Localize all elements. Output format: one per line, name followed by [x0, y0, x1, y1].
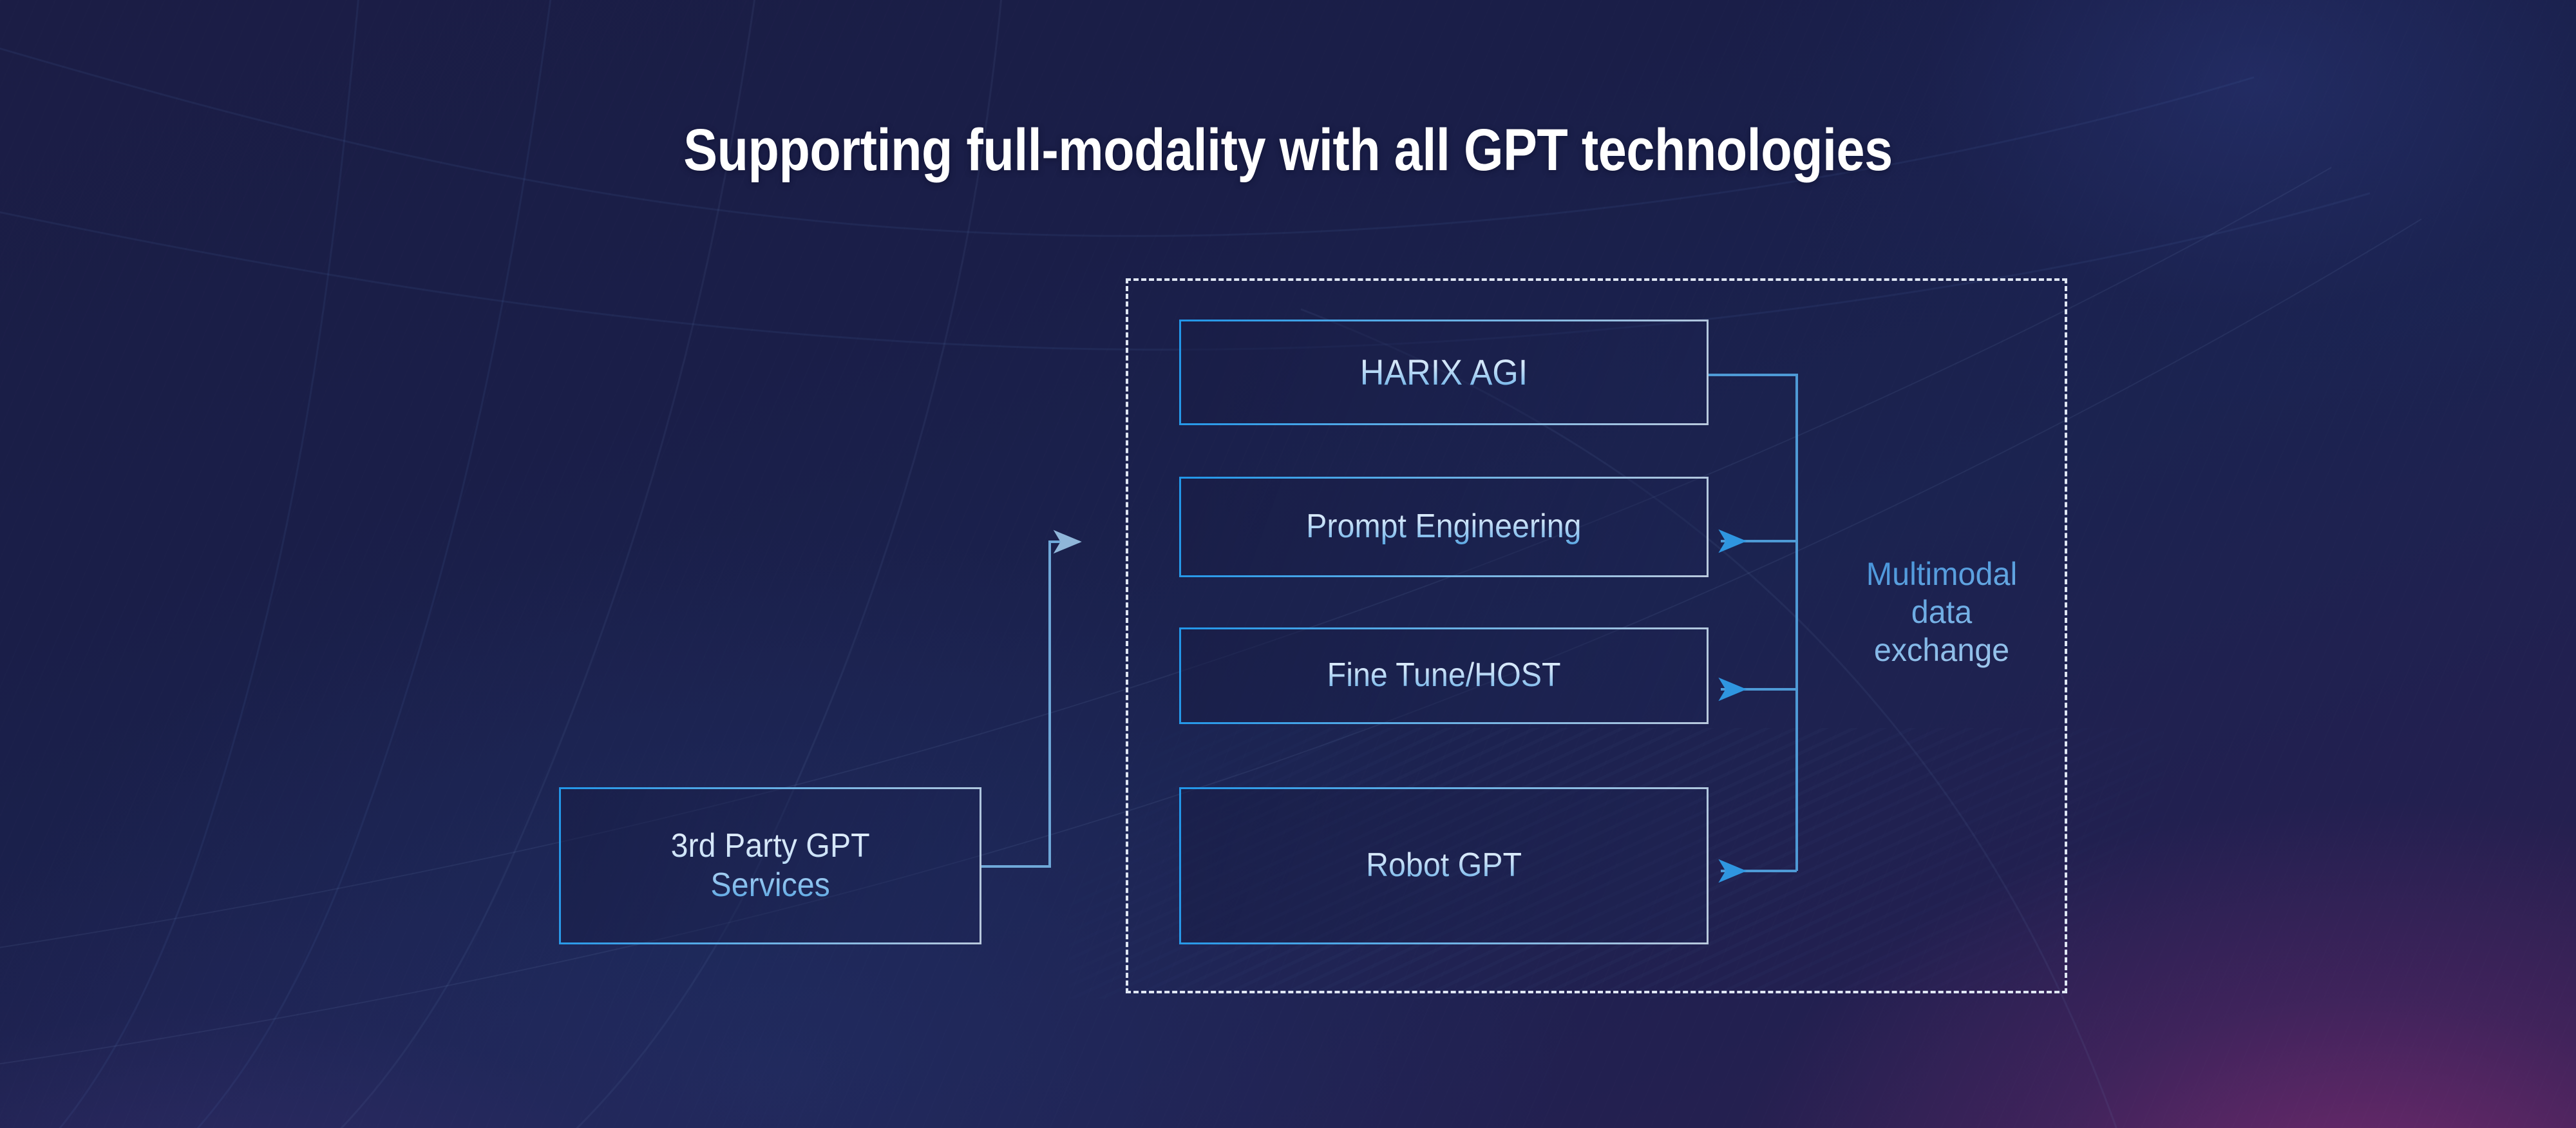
node-robot-gpt[interactable]: Robot GPT: [1179, 787, 1709, 944]
multimodal-data-exchange-label: Multimodal data exchange: [1826, 555, 2058, 669]
node-fine-tune-host-label: Fine Tune/HOST: [1327, 656, 1561, 695]
node-prompt-engineering[interactable]: Prompt Engineering: [1179, 477, 1709, 577]
page-title: Supporting full-modality with all GPT te…: [180, 119, 2396, 182]
node-prompt-engineering-label: Prompt Engineering: [1306, 507, 1581, 546]
node-harix-agi-label: HARIX AGI: [1360, 351, 1528, 394]
node-harix-agi[interactable]: HARIX AGI: [1179, 320, 1709, 425]
node-fine-tune-host[interactable]: Fine Tune/HOST: [1179, 627, 1709, 724]
slide-canvas: Supporting full-modality with all GPT te…: [0, 0, 2576, 1128]
node-third-party-gpt-services-label: 3rd Party GPT Services: [670, 827, 869, 906]
node-robot-gpt-label: Robot GPT: [1366, 846, 1522, 885]
node-third-party-gpt-services[interactable]: 3rd Party GPT Services: [559, 787, 981, 944]
